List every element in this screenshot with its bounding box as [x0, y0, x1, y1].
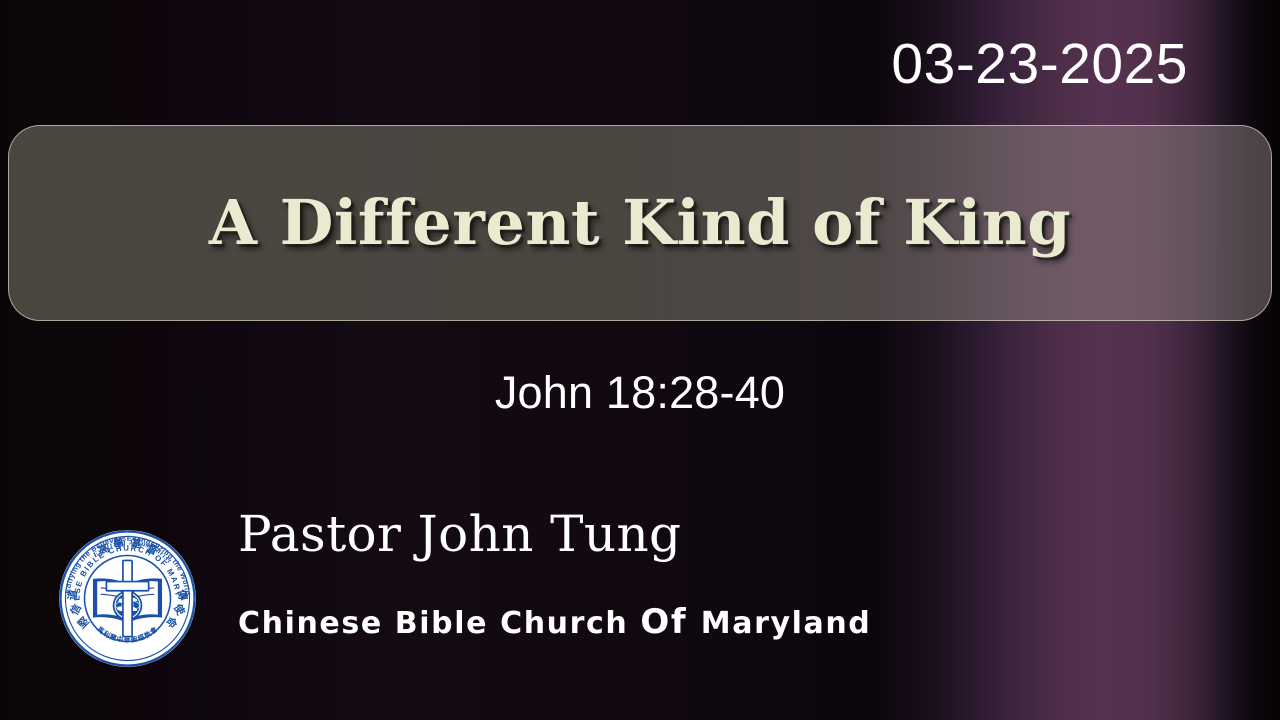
church-name-part1: Chinese Bible Church: [238, 606, 640, 641]
church-name: Chinese Bible Church Of Maryland: [238, 605, 1138, 639]
svg-text:J: J: [128, 537, 133, 546]
church-name-part2: Of: [640, 602, 700, 642]
sermon-date: 03-23-2025: [0, 36, 1188, 93]
speaker-name: Pastor John Tung: [238, 508, 1138, 561]
sermon-title: A Different Kind of King: [209, 190, 1071, 255]
church-name-part3: Maryland: [701, 606, 872, 641]
scripture-reference: John 18:28-40: [0, 370, 1280, 415]
speaker-block: Pastor John Tung Chinese Bible Church Of…: [238, 508, 1138, 639]
sermon-title-slide: 03-23-2025 A Different Kind of King John…: [0, 0, 1280, 720]
church-logo: CHINESE BIBLE CHURCH OF MARYLAND Edifyin…: [57, 528, 198, 669]
title-panel: A Different Kind of King: [8, 125, 1272, 321]
